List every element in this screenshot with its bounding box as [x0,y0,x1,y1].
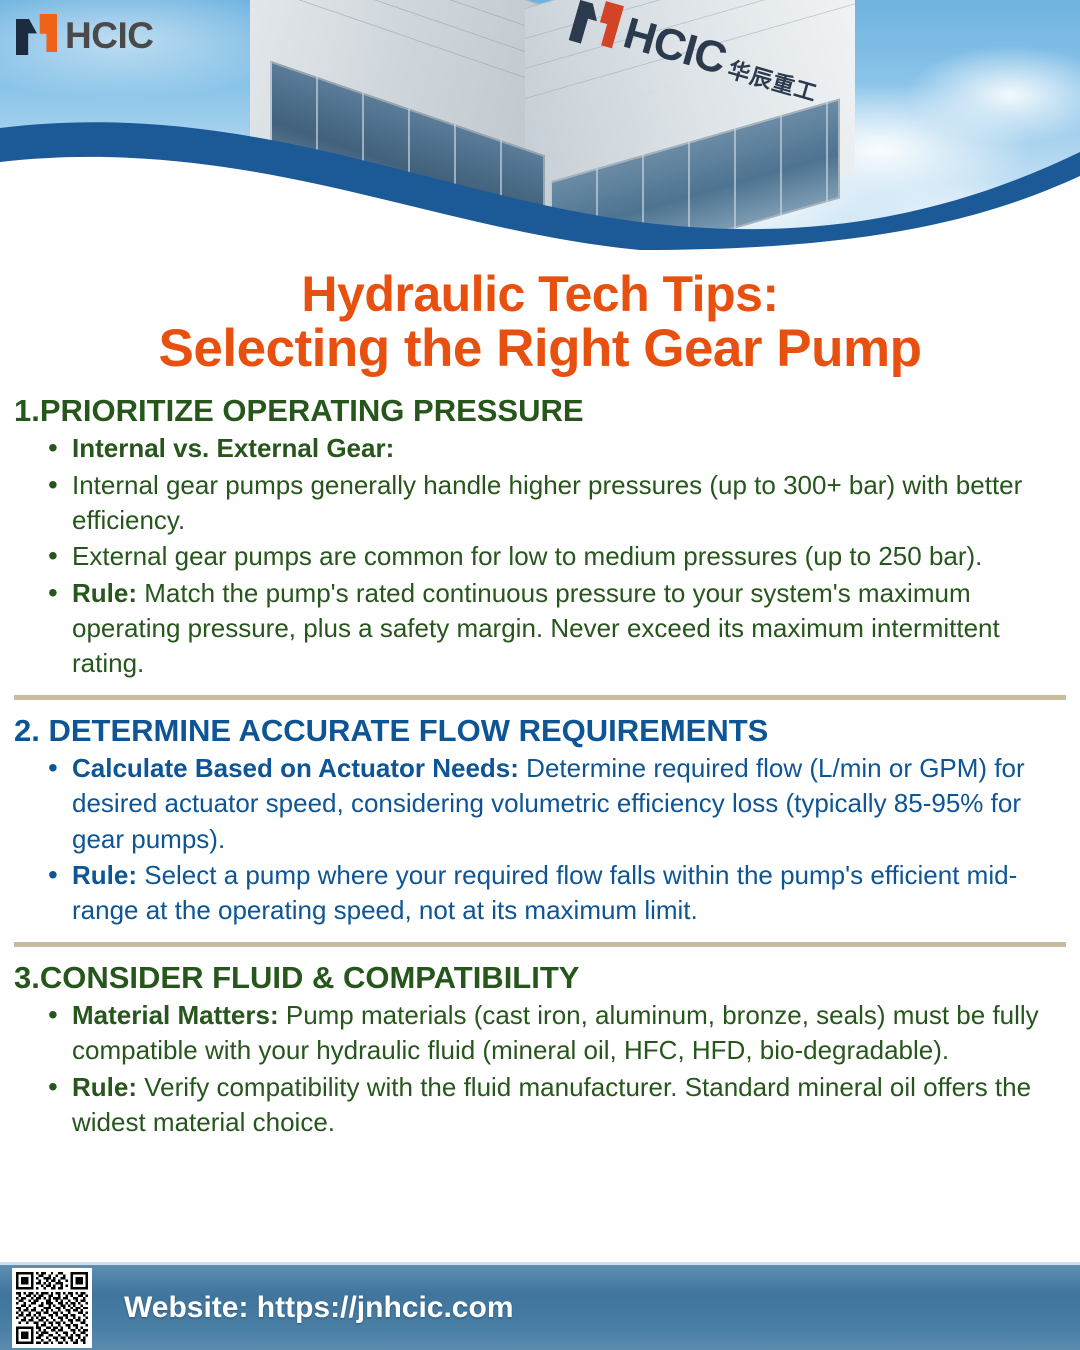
list-item: Calculate Based on Actuator Needs: Deter… [14,751,1066,857]
footer-bar: Website: https://jnhcic.com [0,1262,1080,1350]
title-line-1: Hydraulic Tech Tips: [40,268,1040,321]
qr-code-icon[interactable] [12,1268,92,1348]
list-item: Internal gear pumps generally handle hig… [14,468,1066,539]
list-item-text: Verify compatibility with the fluid manu… [72,1072,1031,1137]
list-item: Rule: Match the pump's rated continuous … [14,576,1066,682]
content-area: 1.PRIORITIZE OPERATING PRESSURE Internal… [0,382,1080,1147]
hcic-logo-mark-icon [16,14,56,56]
section-1: 1.PRIORITIZE OPERATING PRESSURE Internal… [14,382,1066,689]
list-item-label: Rule: [72,578,137,608]
section-1-heading: 1.PRIORITIZE OPERATING PRESSURE [14,392,1066,429]
list-item-label: Rule: [72,860,137,890]
page-title: Hydraulic Tech Tips: Selecting the Right… [0,250,1080,382]
section-divider [14,695,1066,700]
list-item: Rule: Verify compatibility with the flui… [14,1070,1066,1141]
section-3: 3.CONSIDER FLUID & COMPATIBILITY Materia… [14,949,1066,1148]
list-item-label: Rule: [72,1072,137,1102]
list-item-text: External gear pumps are common for low t… [72,541,982,571]
blue-wave-divider [0,90,1080,250]
section-2: 2. DETERMINE ACCURATE FLOW REQUIREMENTS … [14,702,1066,936]
list-item-label: Material Matters: [72,1000,279,1030]
section-2-list: Calculate Based on Actuator Needs: Deter… [14,751,1066,929]
list-item: Material Matters: Pump materials (cast i… [14,998,1066,1069]
list-item-label: Calculate Based on Actuator Needs: [72,753,519,783]
corner-logo: HCIC [16,14,153,56]
title-line-2: Selecting the Right Gear Pump [40,321,1040,377]
website-label[interactable]: Website: https://jnhcic.com [124,1291,514,1325]
list-item: Rule: Select a pump where your required … [14,858,1066,929]
list-item: External gear pumps are common for low t… [14,539,1066,574]
section-3-heading: 3.CONSIDER FLUID & COMPATIBILITY [14,959,1066,996]
qr-code-svg [16,1272,88,1344]
section-3-list: Material Matters: Pump materials (cast i… [14,998,1066,1140]
section-2-heading: 2. DETERMINE ACCURATE FLOW REQUIREMENTS [14,712,1066,749]
section-divider [14,942,1066,947]
list-item: Internal vs. External Gear: [14,431,1066,466]
list-item-text: Select a pump where your required flow f… [72,860,1017,925]
list-item-text: Internal gear pumps generally handle hig… [72,470,1022,535]
section-1-list: Internal vs. External Gear: Internal gea… [14,431,1066,682]
list-item-text: Match the pump's rated continuous pressu… [72,578,1000,679]
list-item-label: Internal vs. External Gear: [72,433,394,463]
header-banner: HCIC 华辰重工 HCIC [0,0,1080,250]
logo-wordmark: HCIC [65,17,153,54]
